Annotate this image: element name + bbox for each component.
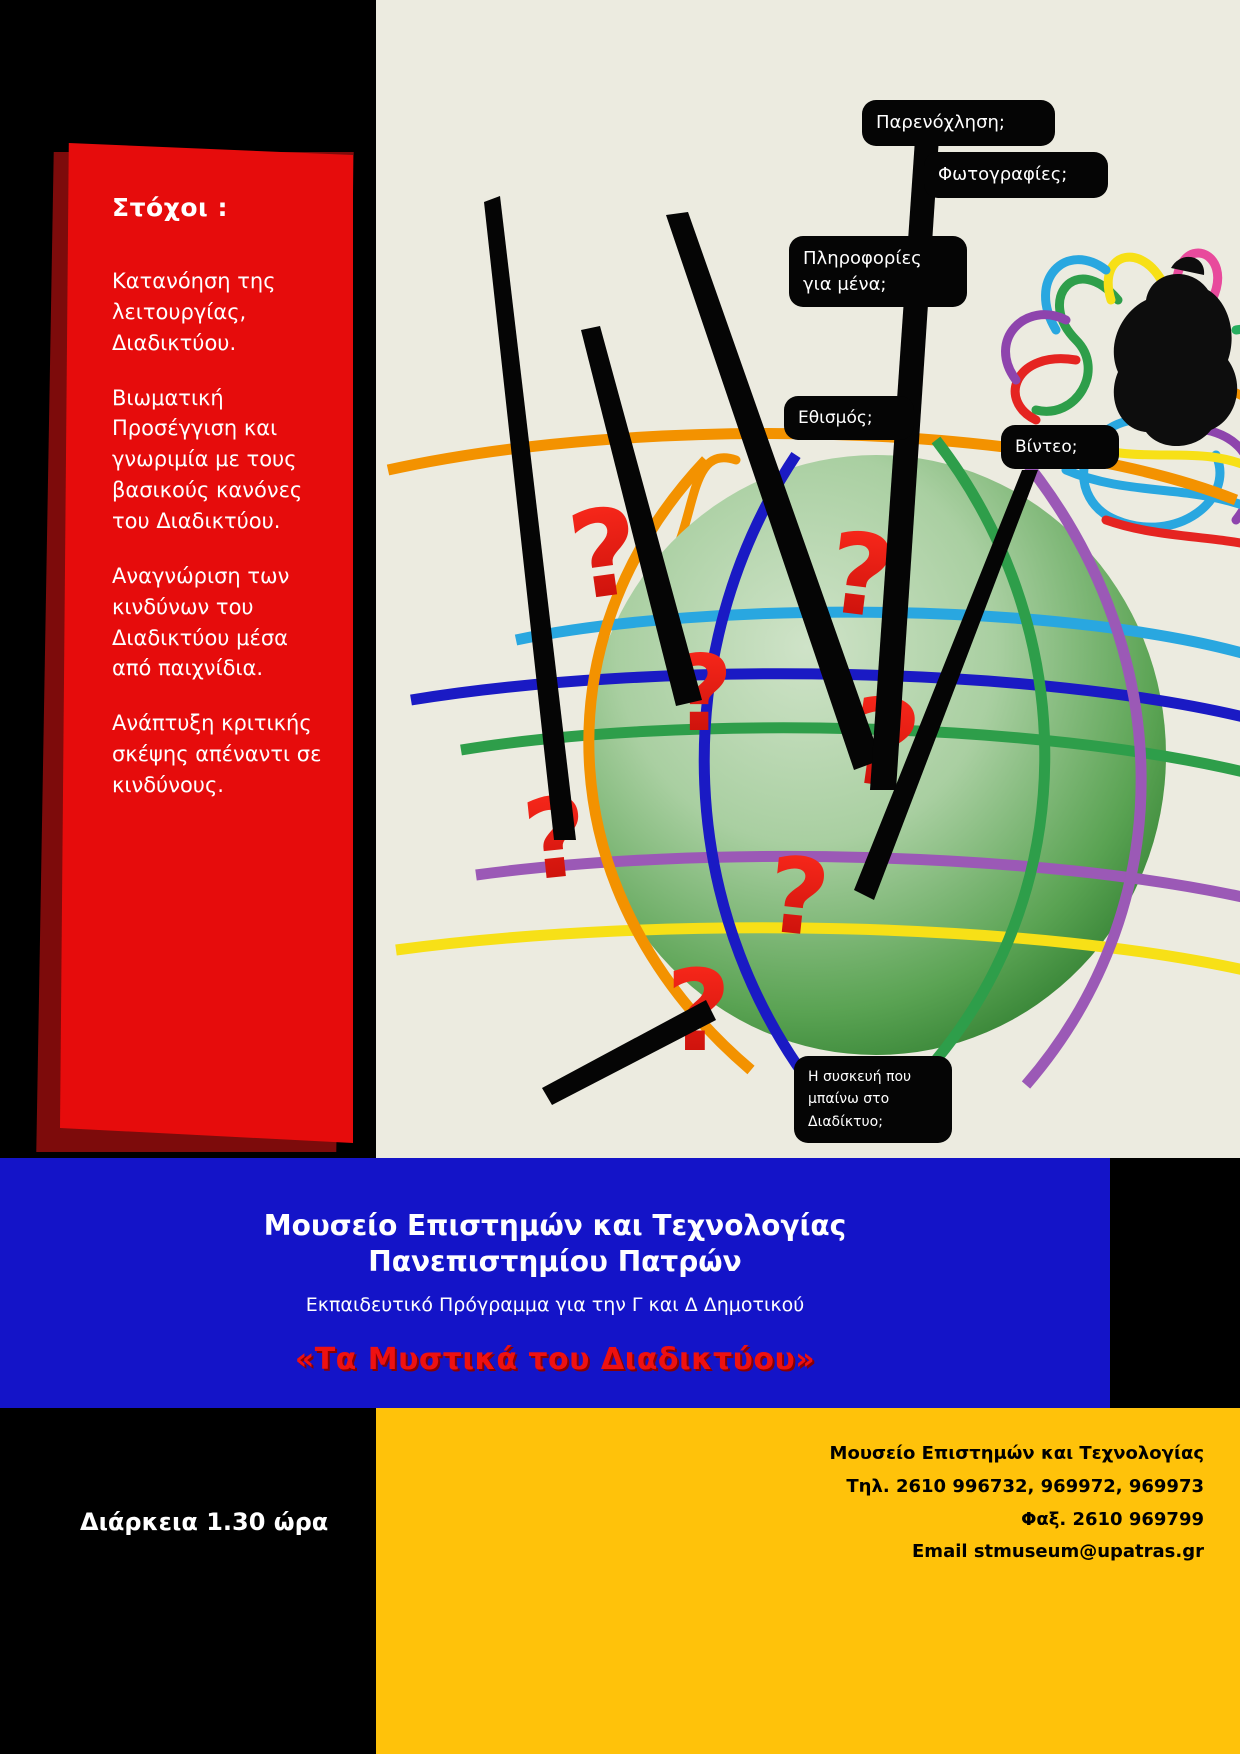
- bubble-addiction[interactable]: Εθισμός;: [784, 396, 914, 440]
- objective-item: Κατανόηση της λειτουργίας, Διαδικτύου.: [112, 266, 327, 359]
- duration-label: Διάρκεια 1.30 ώρα: [80, 1508, 328, 1536]
- program-subtitle: Εκπαιδευτικό Πρόγραμμα για την Γ και Δ Δ…: [0, 1294, 1110, 1316]
- bubble-photos[interactable]: Φωτογραφίες;: [924, 152, 1108, 198]
- program-title: «Τα Μυστικά του Διαδικτύου»: [0, 1342, 1110, 1377]
- artwork-panel: ? ? ? ? ? ? ? Πληροφορίες για μένα;: [376, 0, 1240, 1158]
- objective-item: Βιωματική Προσέγγιση και γνωριμία με του…: [112, 383, 327, 537]
- footer-blue-band: Μουσείο Επιστημών και Τεχνολογίας Πανεπι…: [0, 1158, 1110, 1408]
- objective-item: Ανάπτυξη κριτικής σκέψης απέναντι σε κιν…: [112, 708, 327, 801]
- svg-text:?: ?: [761, 834, 834, 962]
- objectives-title: Στόχοι :: [112, 193, 327, 222]
- contact-box: Μουσείο Επιστημών και Τεχνολογίας Τηλ. 2…: [376, 1408, 1240, 1754]
- bubble-information-text: Πληροφορίες για μένα;: [803, 248, 922, 295]
- organization-line-2: Πανεπιστημίου Πατρών: [0, 1244, 1110, 1280]
- globe-illustration: ? ? ? ? ? ? ?: [376, 0, 1240, 1158]
- objective-item: Αναγνώριση των κινδύνων του Διαδικτύου μ…: [112, 561, 327, 684]
- bottom-left-black-area: [0, 1408, 376, 1754]
- bubble-device-text: Η συσκευή που μπαίνω στο Διαδίκτυο;: [808, 1069, 911, 1130]
- contact-fax: Φαξ. 2610 969799: [830, 1504, 1204, 1537]
- contact-email[interactable]: Email stmuseum@upatras.gr: [830, 1536, 1204, 1569]
- objectives-panel: Στόχοι : Κατανόηση της λειτουργίας, Διαδ…: [60, 143, 353, 1143]
- bubble-harassment[interactable]: Παρενόχληση;: [862, 100, 1055, 146]
- contact-phone: Τηλ. 2610 996732, 969972, 969973: [830, 1471, 1204, 1504]
- bubble-video-text: Βίντεο;: [1015, 437, 1077, 457]
- contact-name: Μουσείο Επιστημών και Τεχνολογίας: [830, 1438, 1204, 1471]
- bubble-video[interactable]: Βίντεο;: [1001, 425, 1119, 469]
- bubble-device[interactable]: Η συσκευή που μπαίνω στο Διαδίκτυο;: [794, 1056, 952, 1143]
- bubble-photos-text: Φωτογραφίες;: [938, 164, 1067, 185]
- organization-line-1: Μουσείο Επιστημών και Τεχνολογίας: [0, 1208, 1110, 1244]
- bubble-information[interactable]: Πληροφορίες για μένα;: [789, 236, 967, 307]
- poster-root: ? ? ? ? ? ? ? Πληροφορίες για μένα;: [0, 0, 1240, 1754]
- bubble-addiction-text: Εθισμός;: [798, 408, 873, 428]
- bubble-harassment-text: Παρενόχληση;: [876, 112, 1005, 133]
